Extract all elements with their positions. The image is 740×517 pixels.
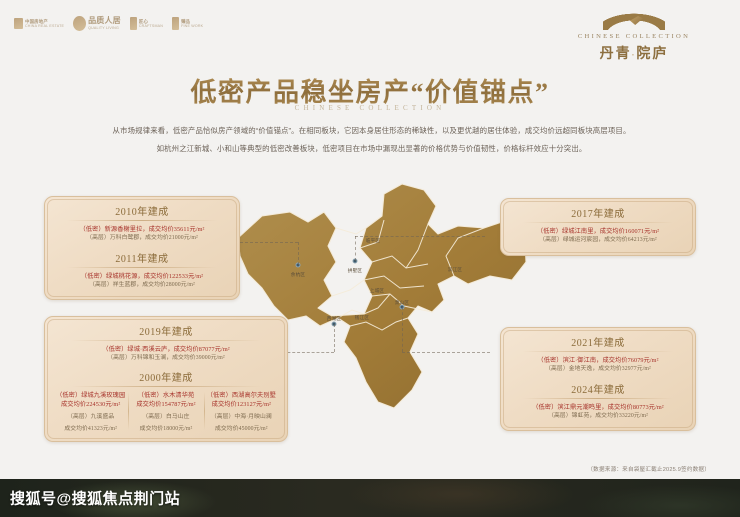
- card-2000-column-1: （低密）绿城九溪玫瑰园 成交均价224530元/m² （高层）九溪盛品 成交均价…: [53, 387, 128, 434]
- high-rise-price: 成交均价45000元/m²: [207, 425, 276, 434]
- low-density-entry: （低密）新源香榭里拉，成交均价35611元/m²: [53, 225, 231, 234]
- card-year-2017: 2017年建成: [509, 205, 687, 223]
- high-rise-entry: （高层）金地天逸，成交均价32977元/m²: [509, 365, 687, 374]
- low-density-price: 成交均价154787元/m²: [131, 400, 200, 410]
- high-rise-entry: （高层）锦虹苑，成交均价33220元/m²: [509, 412, 687, 421]
- data-source-note: （数据来源：来自袋屋汇截止2025.9签约数据）: [587, 465, 710, 473]
- intro-line-1: 从市场规律来看，低密产品恰似房产领域的“价值锚点”。在相同板块，它因本身居住形态…: [44, 122, 699, 140]
- card-entry-2021: （低密）滨江·御江南，成交均价76079元/m² （高层）金地天逸，成交均价32…: [509, 352, 687, 377]
- low-density-price: 成交均价123127元/m²: [207, 400, 276, 410]
- leader-line-xihu-v: [334, 324, 335, 352]
- partner-logo-1-text: 中国房地产 CHINA REAL ESTATE: [25, 19, 64, 29]
- high-rise-price: 成交均价41323元/m²: [56, 425, 125, 434]
- high-rise-entry: （高层）祥生蓝郡，成交均价28000元/m²: [53, 281, 231, 290]
- map-label-yuhang: 余杭区: [291, 272, 305, 278]
- logo-mark-icon: [130, 17, 137, 30]
- low-density-price: 成交均价224530元/m²: [56, 400, 125, 410]
- intro-line-2: 如杭州之江新城、小和山等典型的低密改善板块，低密项目在市场中漏现出显著的价格优势…: [44, 140, 699, 158]
- card-2000-columns: （低密）绿城九溪玫瑰园 成交均价224530元/m² （高层）九溪盛品 成交均价…: [53, 387, 279, 434]
- low-density-name: （低密）水木清华苑: [131, 391, 200, 401]
- partner-logo-2-cn: 品质人居: [88, 16, 121, 26]
- map-label-binjiang: 滨江区: [448, 267, 462, 273]
- card-top-right[interactable]: 2017年建成 （低密）绿城江南里，成交均价160071元/m² （高层）绿城运…: [500, 198, 696, 256]
- card-year-2000: 2000年建成: [53, 369, 279, 387]
- card-entry-2019: （低密）绿城·西溪云庐，成交均价87077元/m² （高层）万科锦和玉澜，成交均…: [53, 341, 279, 366]
- card-year-2011: 2011年建成: [53, 250, 231, 268]
- card-year-2010: 2010年建成: [53, 203, 231, 221]
- partner-logo-4: 臻品 FINE WORK: [172, 17, 203, 30]
- map-label-shangcheng: 上城区: [370, 288, 384, 294]
- brand-chinese-name: 丹青·院庐: [554, 43, 714, 63]
- card-entry-2011: （低密）绿城桃花源，成交均价122533元/m² （高层）祥生蓝郡，成交均价28…: [53, 268, 231, 293]
- leader-line-xiaoshan-h: [402, 352, 490, 353]
- map-label-qianjiang: 钱江区: [355, 315, 369, 321]
- partner-logo-2-text: 品质人居 QUALITY LIVING: [88, 16, 121, 30]
- logo-mark-icon: [172, 17, 179, 30]
- card-bottom-left[interactable]: 2019年建成 （低密）绿城·西溪云庐，成交均价87077元/m² （高层）万科…: [44, 316, 288, 442]
- partner-logo-1: 中国房地产 CHINA REAL ESTATE: [14, 18, 64, 29]
- partner-logo-4-text: 臻品 FINE WORK: [181, 19, 203, 29]
- leader-line-xiaoshan-v: [402, 307, 403, 352]
- high-rise-name: （高层）白马山庄: [131, 413, 200, 422]
- card-entry-2024: （低密）滨江鼎元潮鸣里，成交均价80773元/m² （高层）锦虹苑，成交均价33…: [509, 399, 687, 424]
- card-entry-2017: （低密）绿城江南里，成交均价160071元/m² （高层）绿城运河宸园，成交均价…: [509, 223, 687, 248]
- high-rise-name: （高层）九溪盛品: [56, 413, 125, 422]
- brand-chinese-main: 丹青: [600, 47, 632, 62]
- logo-mark-icon: [73, 16, 86, 31]
- brand-swoosh-icon: [603, 10, 665, 30]
- high-rise-price: 成交均价18000元/m²: [131, 425, 200, 434]
- brand-logo: CHINESE COLLECTION 丹青·院庐: [554, 10, 714, 63]
- partner-logo-1-en: CHINA REAL ESTATE: [25, 24, 64, 28]
- high-rise-name: （高层）中海·月映山澜: [207, 413, 276, 422]
- partner-logo-2: 品质人居 QUALITY LIVING: [73, 16, 121, 31]
- partner-logo-row: 中国房地产 CHINA REAL ESTATE 品质人居 QUALITY LIV…: [14, 16, 203, 31]
- partner-logo-2-en: QUALITY LIVING: [88, 26, 119, 30]
- low-density-entry: （低密）绿城桃花源，成交均价122533元/m²: [53, 272, 231, 281]
- low-density-name: （低密）绿城九溪玫瑰园: [56, 391, 125, 401]
- card-top-left[interactable]: 2010年建成 （低密）新源香榭里拉，成交均价35611元/m² （高层）万科白…: [44, 196, 240, 300]
- low-density-entry: （低密）滨江鼎元潮鸣里，成交均价80773元/m²: [509, 403, 687, 412]
- low-density-entry: （低密）绿城江南里，成交均价160071元/m²: [509, 227, 687, 236]
- card-entry-2010: （低密）新源香榭里拉，成交均价35611元/m² （高层）万科白鹭郡，成交均价2…: [53, 221, 231, 246]
- watermark-text: 搜狐号@搜狐焦点荆门站: [10, 488, 180, 509]
- partner-logo-3: 匠心 CRAFTSMAN: [130, 17, 163, 30]
- high-rise-entry: （高层）万科白鹭郡，成交均价21000元/m²: [53, 234, 231, 243]
- map-label-gongshu: 拱墅区: [348, 268, 362, 274]
- high-rise-entry: （高层）绿城运河宸园，成交均价64213元/m²: [509, 236, 687, 245]
- low-density-entry: （低密）绿城·西溪云庐，成交均价87077元/m²: [53, 345, 279, 354]
- card-year-2019: 2019年建成: [53, 323, 279, 341]
- footer-watermark-bar: 搜狐号@搜狐焦点荆门站: [0, 479, 740, 517]
- card-2000-column-3: （低密）西湖高尔夫别墅 成交均价123127元/m² （高层）中海·月映山澜 成…: [204, 387, 279, 434]
- high-rise-entry: （高层）万科锦和玉澜，成交均价39000元/m²: [53, 354, 279, 363]
- logo-mark-icon: [14, 18, 23, 29]
- brand-chinese-suffix: 院庐: [636, 47, 668, 62]
- leader-line-yuhang-v: [298, 242, 299, 265]
- low-density-name: （低密）西湖高尔夫别墅: [207, 391, 276, 401]
- leader-line-gongshu-h: [355, 236, 485, 237]
- page-subtitle: CHINESE COLLECTION: [0, 104, 740, 112]
- partner-logo-3-en: CRAFTSMAN: [139, 24, 163, 28]
- card-2000-column-2: （低密）水木清华苑 成交均价154787元/m² （高层）白马山庄 成交均价18…: [128, 387, 203, 434]
- partner-logo-4-en: FINE WORK: [181, 24, 203, 28]
- intro-paragraph: 从市场规律来看，低密产品恰似房产领域的“价值锚点”。在相同板块，它因本身居住形态…: [44, 122, 699, 158]
- infographic-page: 中国房地产 CHINA REAL ESTATE 品质人居 QUALITY LIV…: [0, 0, 740, 517]
- low-density-entry: （低密）滨江·御江南，成交均价76079元/m²: [509, 356, 687, 365]
- card-year-2024: 2024年建成: [509, 381, 687, 399]
- map-label-linping: 临平区: [366, 238, 380, 244]
- card-bottom-right[interactable]: 2021年建成 （低密）滨江·御江南，成交均价76079元/m² （高层）金地天…: [500, 327, 696, 431]
- partner-logo-3-text: 匠心 CRAFTSMAN: [139, 19, 163, 29]
- brand-english-name: CHINESE COLLECTION: [554, 33, 714, 40]
- card-year-2021: 2021年建成: [509, 334, 687, 352]
- leader-line-gongshu-v: [355, 236, 356, 261]
